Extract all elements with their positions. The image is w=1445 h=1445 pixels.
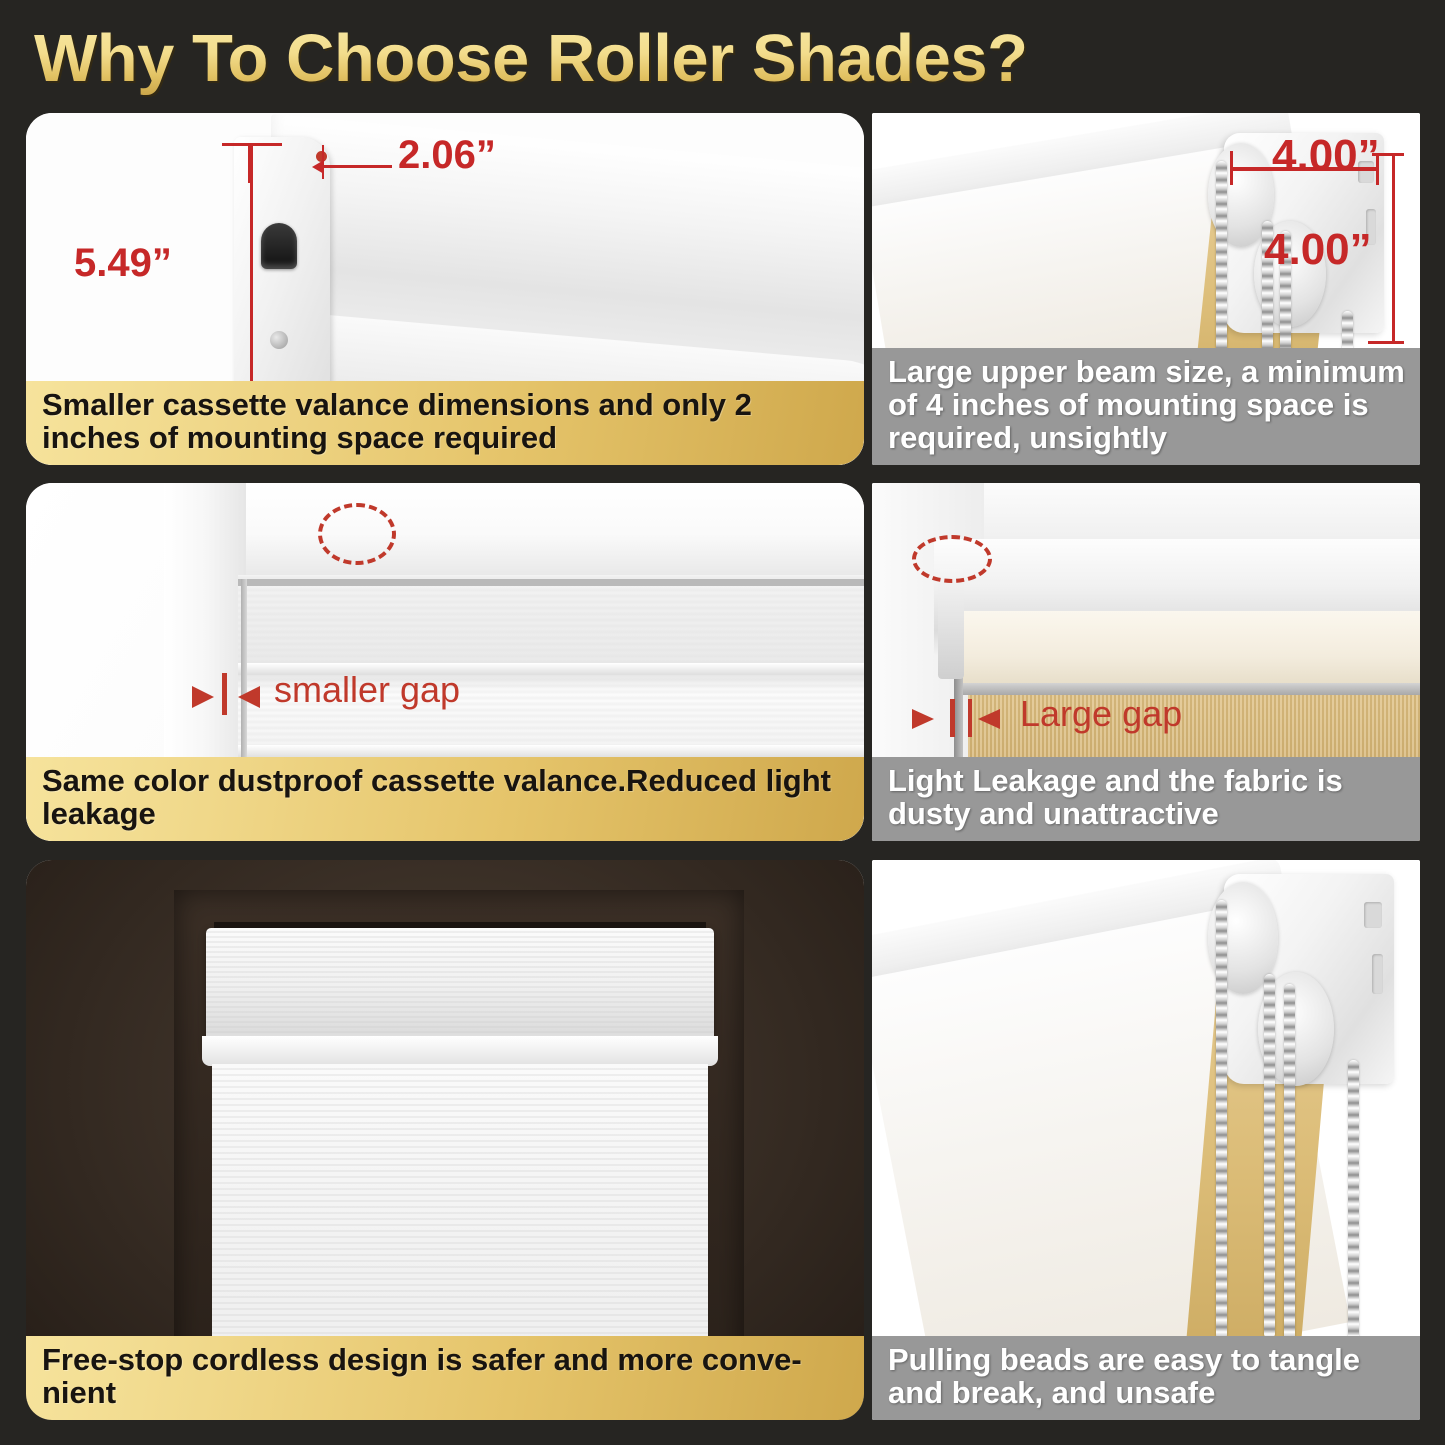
width-dimension-label: 2.06” [398, 133, 496, 178]
smaller-gap-label: smaller gap [274, 669, 460, 711]
panel-dustproof-cassette-valance: smaller gap Same color dustproof cassett… [26, 483, 864, 841]
bead-chain [1216, 900, 1227, 1340]
panel-caption: Light Leakage and the fabric is dusty an… [872, 757, 1420, 841]
panel-light-leakage-dusty-fabric: Large gap Light Leakage and the fabric i… [872, 483, 1420, 841]
panel-large-upper-beam: 4.00” 4.00” Large upper beam size, a min… [872, 113, 1420, 465]
panel-pulling-beads-unsafe: Pulling beads are easy to tangle and bre… [872, 860, 1420, 1420]
page-title: Why To Choose Roller Shades? [34, 20, 1234, 98]
panel-caption: Same color dustproof cassette valance.Re… [26, 757, 864, 841]
mounting-bracket [938, 569, 964, 679]
bead-chain [1348, 1060, 1359, 1342]
valance-slot-icon [261, 223, 297, 269]
panel-cassette-valance-dimensions: 2.06” 5.49” Smaller cassette valance dim… [26, 113, 864, 465]
infographic-page: Why To Choose Roller Shades? 2.06” 5.49” [0, 0, 1445, 1445]
panel-caption: Large upper beam size, a minimum of 4 in… [872, 348, 1420, 465]
screw-icon [270, 331, 288, 349]
panel-caption: Smaller cassette valance dimensions and … [26, 381, 864, 465]
panel-caption: Pulling beads are easy to tangle and bre… [872, 1336, 1420, 1420]
height-dimension-label: 5.49” [74, 241, 172, 286]
highlight-circle-icon [318, 503, 396, 565]
bead-chain [1284, 984, 1295, 1342]
bead-chain [1264, 974, 1275, 1339]
beam-height-label: 4.00” [1264, 225, 1372, 275]
highlight-circle-icon [912, 535, 992, 583]
large-gap-label: Large gap [1020, 693, 1182, 735]
panel-free-stop-cordless-design: Free-stop cordless design is safer and m… [26, 860, 864, 1420]
beam-width-label: 4.00” [1272, 131, 1380, 181]
panel-caption: Free-stop cordless design is safer and m… [26, 1336, 864, 1420]
